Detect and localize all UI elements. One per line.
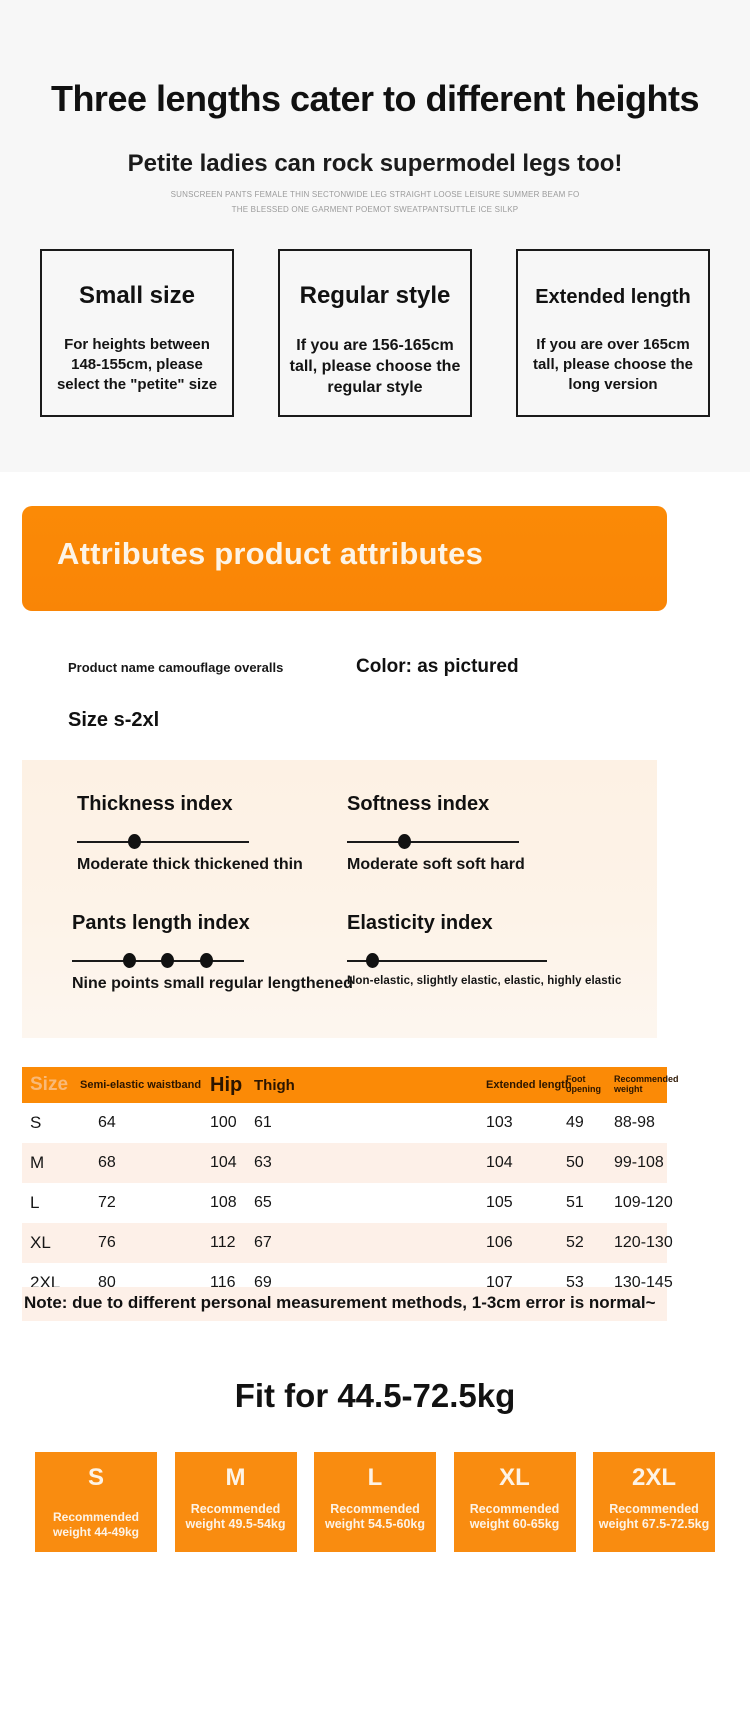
table-row: M 68 104 63 104 50 99-108 [22, 1143, 667, 1183]
table-row: XL 76 112 67 106 52 120-130 [22, 1223, 667, 1263]
header-extended-length: Extended length [486, 1079, 566, 1091]
cell-hip: 112 [210, 1234, 254, 1252]
cell-foot-opening: 52 [566, 1234, 614, 1252]
fit-card-m[interactable]: M Recommended weight 49.5-54kg [175, 1452, 297, 1552]
cell-extended-length: 104 [486, 1154, 566, 1172]
cell-size: S [22, 1113, 80, 1133]
thickness-index-title: Thickness index [77, 793, 303, 816]
cell-recommended-weight: 88-98 [614, 1114, 704, 1132]
cell-waistband: 64 [80, 1114, 210, 1132]
softness-index: Softness index Moderate soft soft hard [347, 793, 525, 874]
fit-card-2xl[interactable]: 2XL Recommended weight 67.5-72.5kg [593, 1452, 715, 1552]
height-box-desc: For heights between 148-155cm, please se… [50, 335, 224, 394]
elasticity-index-slider[interactable] [347, 951, 621, 969]
slider-thumb[interactable] [123, 953, 136, 968]
pants-length-index: Pants length index Nine points small reg… [72, 912, 353, 993]
fit-card-weight: Recommended weight 60-65kg [458, 1502, 572, 1533]
thickness-index-caption: Moderate thick thickened thin [77, 856, 303, 874]
fit-title: Fit for 44.5-72.5kg [0, 1377, 750, 1415]
fit-card-weight: Recommended weight 67.5-72.5kg [597, 1502, 711, 1533]
height-box-title: Extended length [518, 286, 708, 309]
softness-index-caption: Moderate soft soft hard [347, 856, 525, 874]
cell-extended-length: 103 [486, 1114, 566, 1132]
slider-thumb[interactable] [161, 953, 174, 968]
cell-hip: 100 [210, 1114, 254, 1132]
slider-track [347, 841, 519, 843]
fit-size-cards: S Recommended weight 44-49kg M Recommend… [35, 1452, 715, 1552]
cell-waistband: 76 [80, 1234, 210, 1252]
slider-track [72, 960, 244, 962]
header-size: Size [22, 1074, 80, 1096]
pants-length-index-slider[interactable] [72, 951, 353, 969]
fit-card-size: S [35, 1464, 157, 1492]
product-color-label: Color: as pictured [356, 656, 519, 678]
elasticity-index: Elasticity index Non-elastic, slightly e… [347, 912, 621, 987]
cell-size: M [22, 1153, 80, 1173]
cell-recommended-weight: 99-108 [614, 1154, 704, 1172]
header-recommended-weight: Recommended weight [614, 1075, 704, 1095]
header-thigh: Thigh [254, 1077, 404, 1094]
fit-card-size: L [314, 1464, 436, 1492]
cell-recommended-weight: 120-130 [614, 1234, 704, 1252]
cell-thigh: 65 [254, 1194, 404, 1212]
cell-foot-opening: 51 [566, 1194, 614, 1212]
height-box-regular: Regular style If you are 156-165cm tall,… [278, 249, 472, 417]
thickness-index: Thickness index Moderate thick thickened… [77, 793, 303, 874]
size-table: Size Semi-elastic waistband Hip Thigh Ex… [22, 1067, 667, 1303]
cell-thigh: 63 [254, 1154, 404, 1172]
table-header-row: Size Semi-elastic waistband Hip Thigh Ex… [22, 1067, 667, 1103]
softness-index-title: Softness index [347, 793, 525, 816]
page-title: Three lengths cater to different heights [0, 78, 750, 120]
table-body: S 64 100 61 103 49 88-98 M 68 104 63 104… [22, 1103, 667, 1303]
cell-thigh: 67 [254, 1234, 404, 1252]
slider-track [77, 841, 249, 843]
pants-length-index-title: Pants length index [72, 912, 353, 935]
product-detail-page: Three lengths cater to different heights… [0, 0, 750, 1716]
table-row: L 72 108 65 105 51 109-120 [22, 1183, 667, 1223]
pants-length-index-caption: Nine points small regular lengthened [72, 975, 353, 993]
header-foot-opening: Foot opening [566, 1075, 614, 1095]
heights-section: Three lengths cater to different heights… [0, 0, 750, 472]
cell-waistband: 72 [80, 1194, 210, 1212]
softness-index-slider[interactable] [347, 832, 525, 850]
header-hip: Hip [210, 1074, 254, 1097]
fit-card-weight: Recommended weight 54.5-60kg [318, 1502, 432, 1533]
height-box-extended: Extended length If you are over 165cm ta… [516, 249, 710, 417]
fineprint-line-1: SUNSCREEN PANTS FEMALE THIN SECTONWIDE L… [0, 190, 750, 199]
elasticity-index-caption: Non-elastic, slightly elastic, elastic, … [347, 975, 621, 987]
slider-thumb[interactable] [200, 953, 213, 968]
cell-size: XL [22, 1233, 80, 1253]
attributes-banner: Attributes product attributes [22, 506, 667, 611]
elasticity-index-title: Elasticity index [347, 912, 621, 935]
cell-extended-length: 106 [486, 1234, 566, 1252]
cell-recommended-weight: 109-120 [614, 1194, 704, 1212]
height-box-small: Small size For heights between 148-155cm… [40, 249, 234, 417]
cell-thigh: 61 [254, 1114, 404, 1132]
cell-hip: 108 [210, 1194, 254, 1212]
cell-size: L [22, 1193, 80, 1213]
cell-extended-length: 105 [486, 1194, 566, 1212]
cell-foot-opening: 49 [566, 1114, 614, 1132]
fineprint-line-2: THE BLESSED ONE GARMENT POEMOT SWEATPANT… [0, 205, 750, 214]
attributes-banner-label: Attributes product attributes [57, 536, 483, 572]
thickness-index-slider[interactable] [77, 832, 303, 850]
header-waistband: Semi-elastic waistband [80, 1079, 210, 1091]
height-box-title: Regular style [280, 282, 470, 310]
slider-thumb[interactable] [128, 834, 141, 849]
attribute-index-panel: Thickness index Moderate thick thickened… [22, 760, 657, 1038]
fit-card-size: M [175, 1464, 297, 1492]
fit-card-l[interactable]: L Recommended weight 54.5-60kg [314, 1452, 436, 1552]
fit-card-size: XL [454, 1464, 576, 1492]
fit-card-xl[interactable]: XL Recommended weight 60-65kg [454, 1452, 576, 1552]
cell-hip: 104 [210, 1154, 254, 1172]
cell-waistband: 68 [80, 1154, 210, 1172]
fit-card-size: 2XL [593, 1464, 715, 1492]
height-recommendation-boxes: Small size For heights between 148-155cm… [40, 249, 710, 417]
table-row: S 64 100 61 103 49 88-98 [22, 1103, 667, 1143]
cell-foot-opening: 50 [566, 1154, 614, 1172]
slider-thumb[interactable] [366, 953, 379, 968]
height-box-desc: If you are 156-165cm tall, please choose… [288, 335, 462, 398]
fit-card-weight: Recommended weight 44-49kg [39, 1510, 153, 1539]
height-box-title: Small size [42, 282, 232, 310]
height-box-desc: If you are over 165cm tall, please choos… [526, 335, 700, 394]
product-size-range-label: Size s-2xl [68, 709, 159, 732]
fit-card-weight: Recommended weight 49.5-54kg [179, 1502, 293, 1533]
product-name-label: Product name camouflage overalls [68, 660, 283, 675]
page-subtitle: Petite ladies can rock supermodel legs t… [0, 150, 750, 178]
slider-thumb[interactable] [398, 834, 411, 849]
fit-card-s[interactable]: S Recommended weight 44-49kg [35, 1452, 157, 1552]
size-table-note: Note: due to different personal measurem… [22, 1287, 667, 1321]
